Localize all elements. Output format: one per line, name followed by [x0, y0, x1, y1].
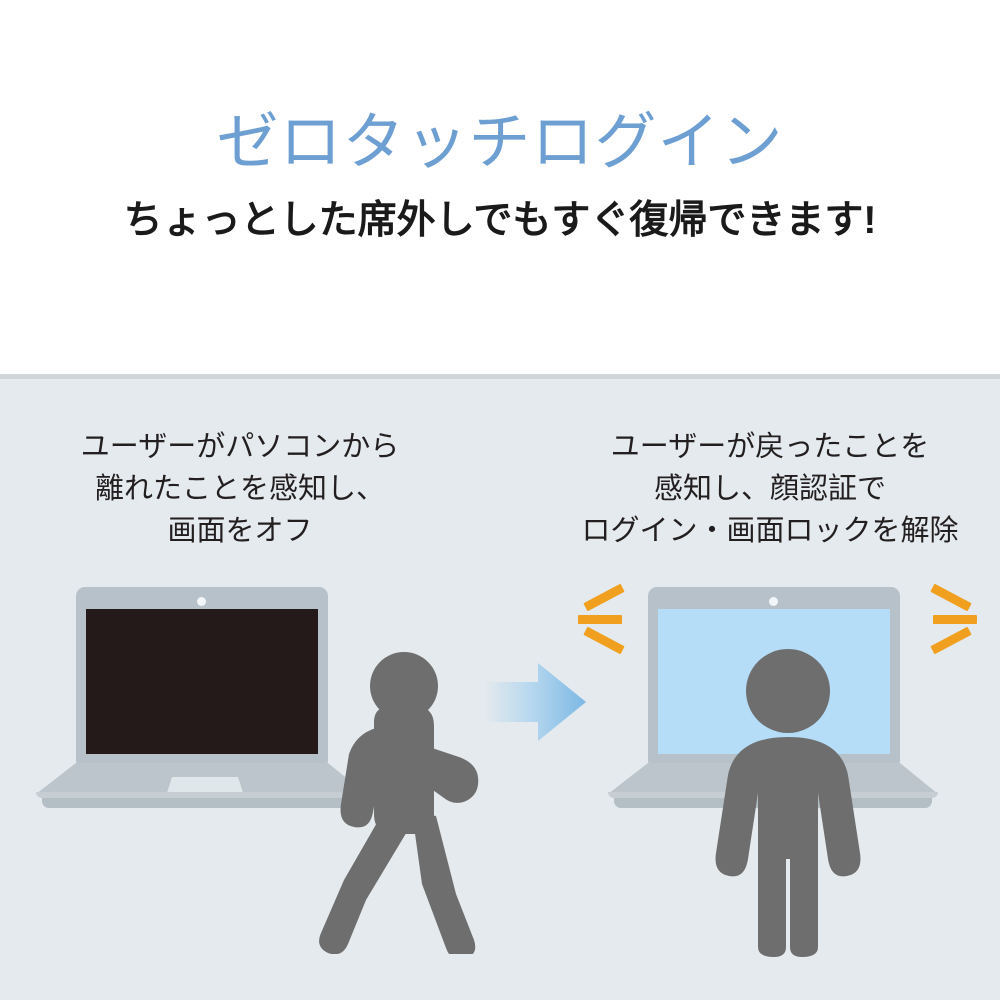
laptop-screen-off-display [86, 609, 318, 754]
right-caption-line-1: ユーザーが戻ったことを [540, 426, 1000, 468]
page-title: ゼロタッチログイン [0, 108, 1000, 178]
left-scene-caption: ユーザーがパソコンから 離れたことを感知し、 画面をオフ [20, 426, 460, 552]
walking-person-figure [316, 644, 496, 954]
laptop-base-foot-left [42, 798, 360, 808]
standing-person-figure [700, 647, 876, 957]
header-section: ゼロタッチログイン ちょっとした席外しでもすぐ復帰できます! [0, 0, 1000, 377]
infographic-page: ゼロタッチログイン ちょっとした席外しでもすぐ復帰できます! ユーザーがパソコン… [0, 0, 1000, 1000]
left-caption-line-2: 離れたことを感知し、 [20, 468, 460, 510]
right-caption-line-2: 感知し、顔認証で [540, 468, 1000, 510]
webcam-icon-right [769, 597, 778, 606]
left-caption-line-3: 画面をオフ [20, 510, 460, 552]
webcam-icon-left [197, 597, 206, 606]
right-scene-caption: ユーザーが戻ったことを 感知し、顔認証で ログイン・画面ロックを解除 [540, 426, 1000, 552]
illustration-panel: ユーザーがパソコンから 離れたことを感知し、 画面をオフ ユーザーが戻ったことを… [0, 379, 1000, 1000]
transition-arrow-icon [484, 655, 586, 749]
page-subtitle: ちょっとした席外しでもすぐ復帰できます! [0, 197, 1000, 245]
right-caption-line-3: ログイン・画面ロックを解除 [540, 510, 1000, 552]
spark-icon-right-middle [933, 615, 977, 624]
spark-icon-left-middle [578, 615, 622, 624]
left-caption-line-1: ユーザーがパソコンから [20, 426, 460, 468]
